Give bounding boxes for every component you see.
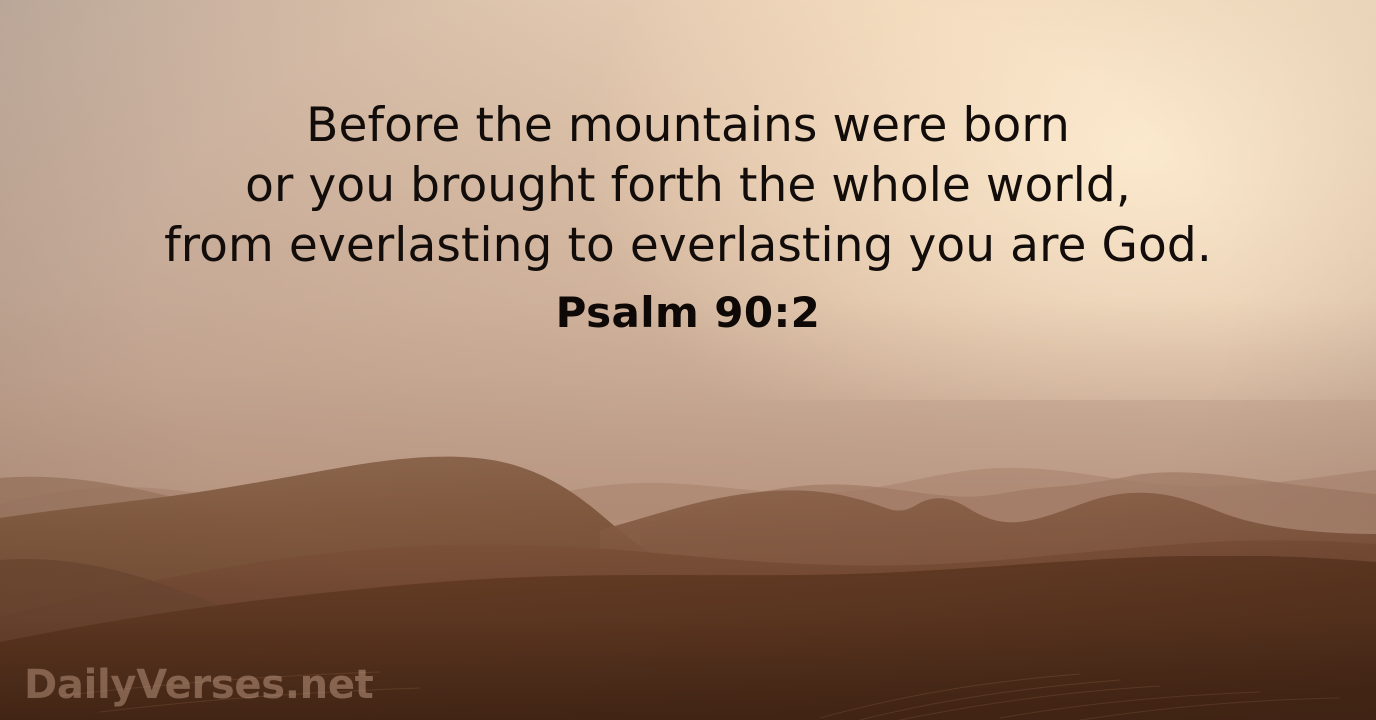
verse-line-3: from everlasting to everlasting you are … [0, 216, 1376, 276]
verse-image-canvas: Before the mountains were born or you br… [0, 0, 1376, 720]
verse-text-block: Before the mountains were born or you br… [0, 96, 1376, 338]
verse-reference: Psalm 90:2 [0, 288, 1376, 338]
verse-line-2: or you brought forth the whole world, [0, 156, 1376, 216]
verse-line-1: Before the mountains were born [0, 96, 1376, 156]
site-watermark: DailyVerses.net [24, 662, 374, 708]
